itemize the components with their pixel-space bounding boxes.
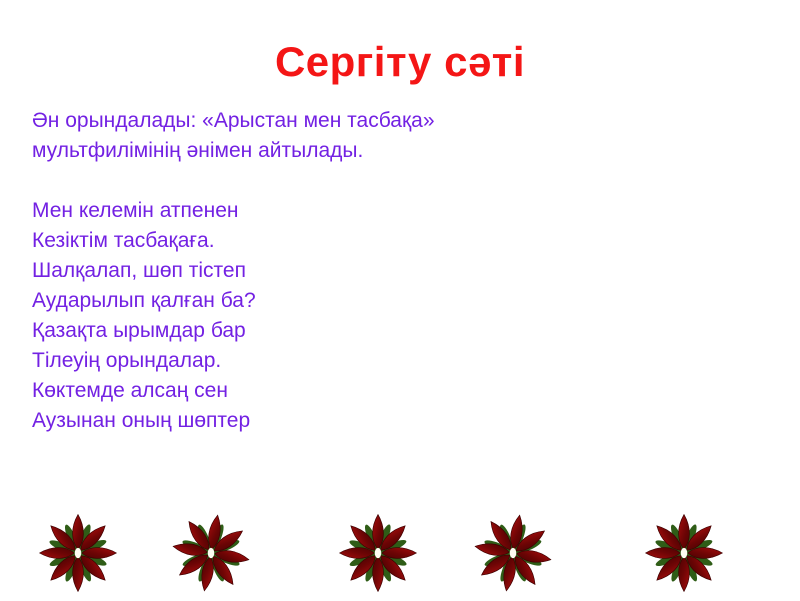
- poem-line: Көктемде алсаң сен: [32, 376, 652, 406]
- flower-icon: [30, 505, 126, 601]
- flower-decoration-row: [0, 505, 800, 600]
- subtitle-line: мультфилімінің әнімен айтылады.: [32, 136, 652, 166]
- poem-line: Тілеуің орындалар.: [32, 346, 652, 376]
- poem-line: Аузынан оның шөптер: [32, 406, 652, 436]
- slide-canvas: Сергіту сәті Ән орындалады: «Арыстан мен…: [0, 0, 800, 600]
- poem-line: Шалқалап, шөп тістеп: [32, 256, 652, 286]
- poem-block: Мен келемін атпенен Кезіктім тасбақаға. …: [32, 196, 652, 436]
- page-title: Сергіту сәті: [0, 40, 800, 84]
- subtitle-line: Ән орындалады: «Арыстан мен тасбақа»: [32, 106, 652, 136]
- flower-icon: [636, 505, 732, 601]
- poem-line: Кезіктім тасбақаға.: [32, 226, 652, 256]
- poem-line: Аударылып қалған ба?: [32, 286, 652, 316]
- poem-line: Қазақта ырымдар бар: [32, 316, 652, 346]
- flower-icon: [465, 505, 561, 601]
- flower-icon: [330, 505, 426, 601]
- flower-icon: [163, 505, 259, 601]
- subtitle-block: Ән орындалады: «Арыстан мен тасбақа» мул…: [32, 106, 652, 166]
- slide-text-body: Ән орындалады: «Арыстан мен тасбақа» мул…: [32, 106, 652, 436]
- poem-line: Мен келемін атпенен: [32, 196, 652, 226]
